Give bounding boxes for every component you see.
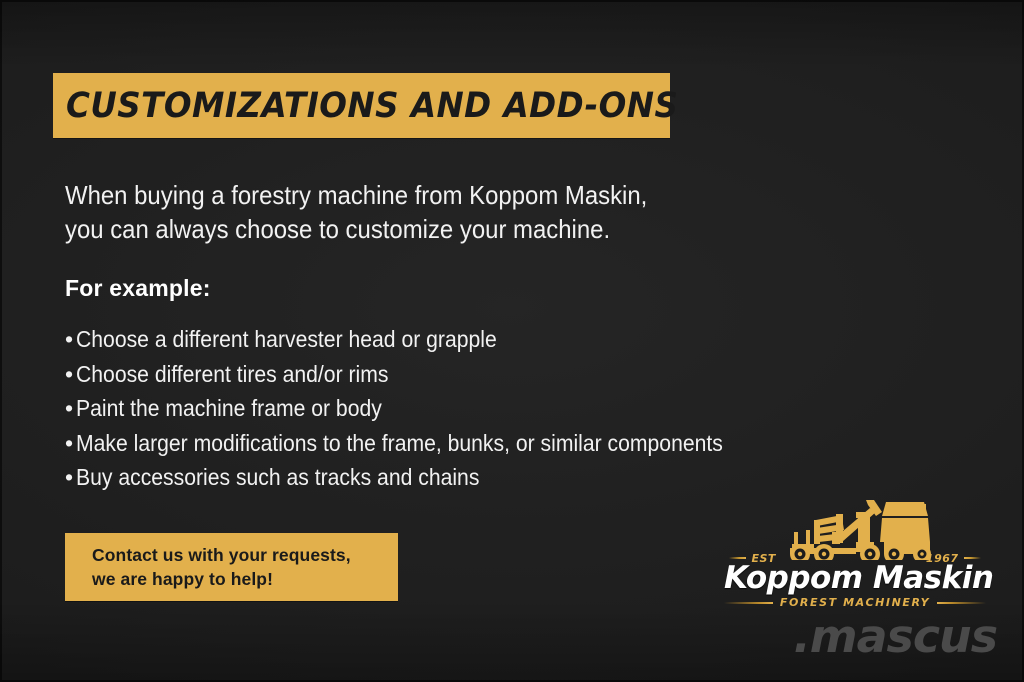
list-item-label: Paint the machine frame or body: [76, 391, 382, 426]
promotional-slide: CUSTOMIZATIONS AND ADD-ONS When buying a…: [0, 0, 1024, 682]
logo-tagline-row: FOREST MACHINERY: [724, 596, 986, 609]
bullet-icon: •: [65, 322, 76, 357]
bullet-icon: •: [65, 426, 76, 461]
contact-line-2: we are happy to help!: [92, 567, 398, 591]
customization-options-list: •Choose a different harvester head or gr…: [65, 322, 785, 495]
koppom-maskin-logo: EST 1967 Koppom Maskin FOREST MACHINERY: [724, 498, 986, 613]
logo-rule-right: [964, 557, 981, 559]
bullet-icon: •: [65, 460, 76, 495]
intro-line-2: you can always choose to customize your …: [65, 212, 691, 246]
logo-tagline-rule-right: [937, 602, 986, 604]
list-item: •Choose a different harvester head or gr…: [65, 322, 785, 357]
for-example-label: For example:: [65, 275, 211, 302]
contact-cta-box[interactable]: Contact us with your requests, we are ha…: [65, 533, 398, 601]
logo-brand-name: Koppom Maskin: [724, 560, 986, 596]
list-item-label: Choose different tires and/or rims: [76, 357, 388, 392]
list-item: •Paint the machine frame or body: [65, 391, 785, 426]
mascus-watermark: .mascus: [752, 614, 997, 660]
list-item: •Make larger modifications to the frame,…: [65, 426, 785, 461]
bullet-icon: •: [65, 357, 76, 392]
list-item: •Choose different tires and/or rims: [65, 357, 785, 392]
list-item-label: Buy accessories such as tracks and chain…: [76, 460, 479, 495]
list-item: •Buy accessories such as tracks and chai…: [65, 460, 785, 495]
contact-line-1: Contact us with your requests,: [92, 543, 398, 567]
bullet-icon: •: [65, 391, 76, 426]
logo-tagline-rule-left: [724, 602, 773, 604]
title-banner: CUSTOMIZATIONS AND ADD-ONS: [53, 73, 670, 138]
list-item-label: Make larger modifications to the frame, …: [76, 426, 723, 461]
logo-rule-left: [729, 557, 746, 559]
logo-tagline: FOREST MACHINERY: [773, 596, 937, 609]
list-item-label: Choose a different harvester head or gra…: [76, 322, 497, 357]
intro-line-1: When buying a forestry machine from Kopp…: [65, 178, 691, 212]
page-title: CUSTOMIZATIONS AND ADD-ONS: [53, 86, 678, 126]
intro-paragraph: When buying a forestry machine from Kopp…: [65, 178, 745, 246]
